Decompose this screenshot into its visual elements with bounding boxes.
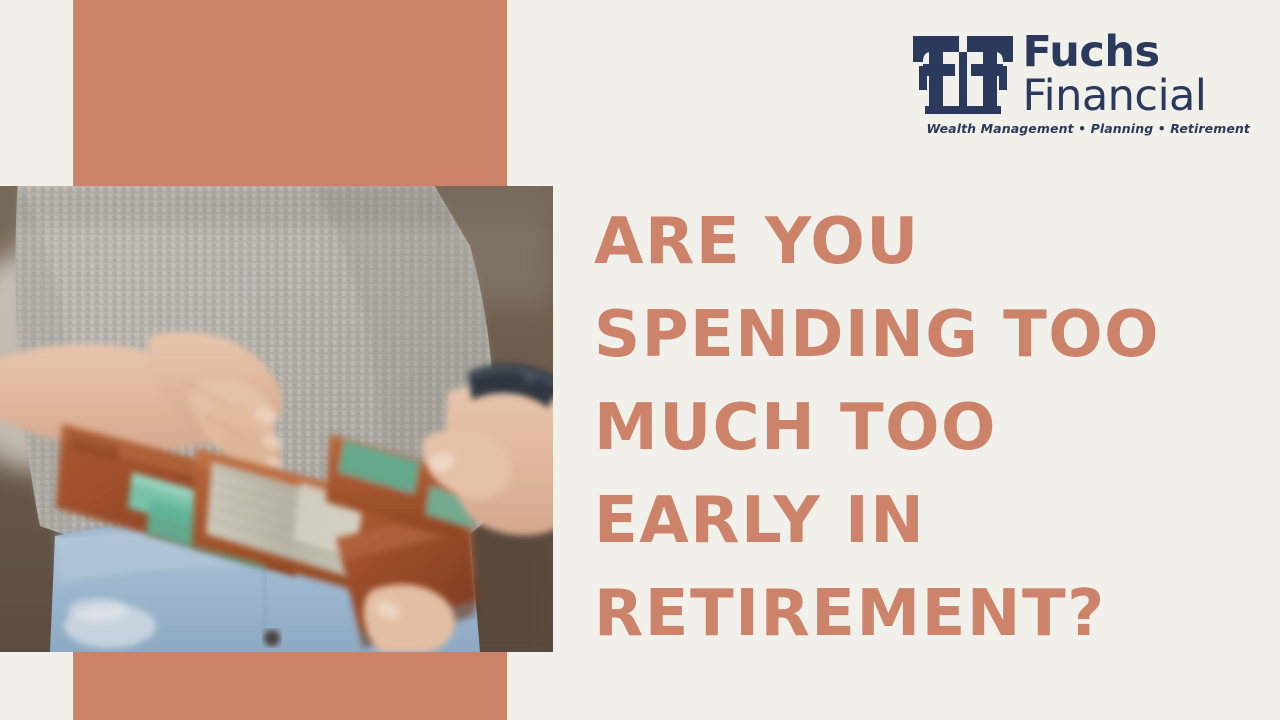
headline-line-5: RETIREMENT? [594, 568, 1234, 661]
poster-canvas: ARE YOU SPENDING TOO MUCH TOO EARLY IN R… [0, 0, 1280, 720]
logo-word-financial: Financial [1023, 74, 1207, 118]
ff-monogram-icon [911, 30, 1015, 118]
headline: ARE YOU SPENDING TOO MUCH TOO EARLY IN R… [594, 196, 1234, 661]
brand-logo: Fuchs Financial Wealth Management • Plan… [911, 30, 1250, 137]
logo-tagline: Wealth Management • Planning • Retiremen… [927, 121, 1250, 137]
headline-line-3: MUCH TOO [594, 382, 1234, 475]
logo-word-fuchs: Fuchs [1023, 30, 1160, 74]
logo-wordmark: Fuchs Financial Wealth Management • Plan… [1023, 30, 1250, 137]
decorative-block-bottom [73, 652, 507, 720]
headline-line-1: ARE YOU [594, 196, 1234, 289]
headline-line-2: SPENDING TOO [594, 289, 1234, 382]
decorative-block-top [73, 0, 507, 186]
wallet-photo-illustration [0, 186, 553, 652]
headline-line-4: EARLY IN [594, 475, 1234, 568]
wallet-photo [0, 186, 553, 652]
